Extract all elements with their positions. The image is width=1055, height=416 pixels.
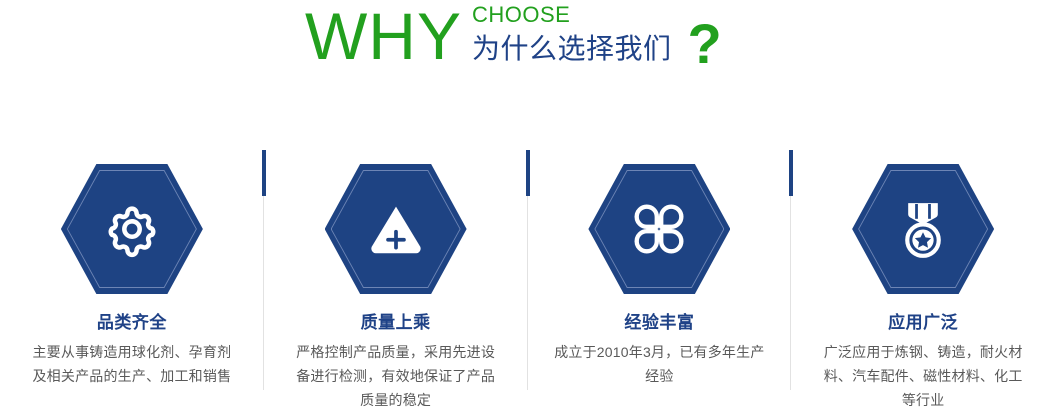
feature-title-3: 经验丰富: [624, 312, 694, 334]
heading-chinese-subtitle: 为什么选择我们: [472, 32, 672, 66]
feature-hexagon-4[interactable]: [852, 164, 994, 294]
clover-icon: [588, 164, 730, 294]
feature-title-1: 品类齐全: [97, 312, 167, 334]
heading-inner: WHY CHOOSE 为什么选择我们 ?: [305, 0, 722, 82]
heading-question-mark: ?: [688, 0, 722, 74]
triangle-plus-icon: [325, 164, 467, 294]
divider-accent: [526, 150, 530, 196]
feature-hexagon-2[interactable]: [325, 164, 467, 294]
heading-text-stack: CHOOSE 为什么选择我们: [472, 0, 672, 66]
feature-column-3: 经验丰富 成立于2010年3月，已有多年生产经验: [528, 150, 792, 416]
feature-desc-3: 成立于2010年3月，已有多年生产经验: [553, 340, 765, 388]
feature-hexagon-3[interactable]: [588, 164, 730, 294]
feature-column-2: 质量上乘 严格控制产品质量，采用先进设备进行检测，有效地保证了产品质量的稳定: [264, 150, 528, 416]
divider-line: [527, 196, 528, 390]
divider-accent: [262, 150, 266, 196]
feature-desc-2: 严格控制产品质量，采用先进设备进行检测，有效地保证了产品质量的稳定: [290, 340, 502, 412]
heading-choose-word: CHOOSE: [472, 3, 672, 27]
feature-columns: 品类齐全 主要从事铸造用球化剂、孕育剂及相关产品的生产、加工和销售: [0, 150, 1055, 416]
why-choose-us-section: WHY CHOOSE 为什么选择我们 ?: [0, 0, 1055, 416]
divider-line: [263, 196, 264, 390]
medal-icon: [852, 164, 994, 294]
heading-why-word: WHY: [305, 0, 462, 72]
gear-icon: [61, 164, 203, 294]
feature-title-4: 应用广泛: [888, 312, 958, 334]
feature-desc-4: 广泛应用于炼钢、铸造，耐火材料、汽车配件、磁性材料、化工等行业: [817, 340, 1029, 412]
column-divider-3: [789, 150, 793, 390]
feature-column-4: 应用广泛 广泛应用于炼钢、铸造，耐火材料、汽车配件、磁性材料、化工等行业: [791, 150, 1055, 416]
column-divider-1: [262, 150, 266, 390]
column-divider-2: [526, 150, 530, 390]
feature-hexagon-1[interactable]: [61, 164, 203, 294]
feature-desc-1: 主要从事铸造用球化剂、孕育剂及相关产品的生产、加工和销售: [26, 340, 238, 388]
section-heading: WHY CHOOSE 为什么选择我们 ?: [0, 0, 1055, 90]
feature-column-1: 品类齐全 主要从事铸造用球化剂、孕育剂及相关产品的生产、加工和销售: [0, 150, 264, 416]
divider-line: [790, 196, 791, 390]
feature-title-2: 质量上乘: [361, 312, 431, 334]
divider-accent: [789, 150, 793, 196]
